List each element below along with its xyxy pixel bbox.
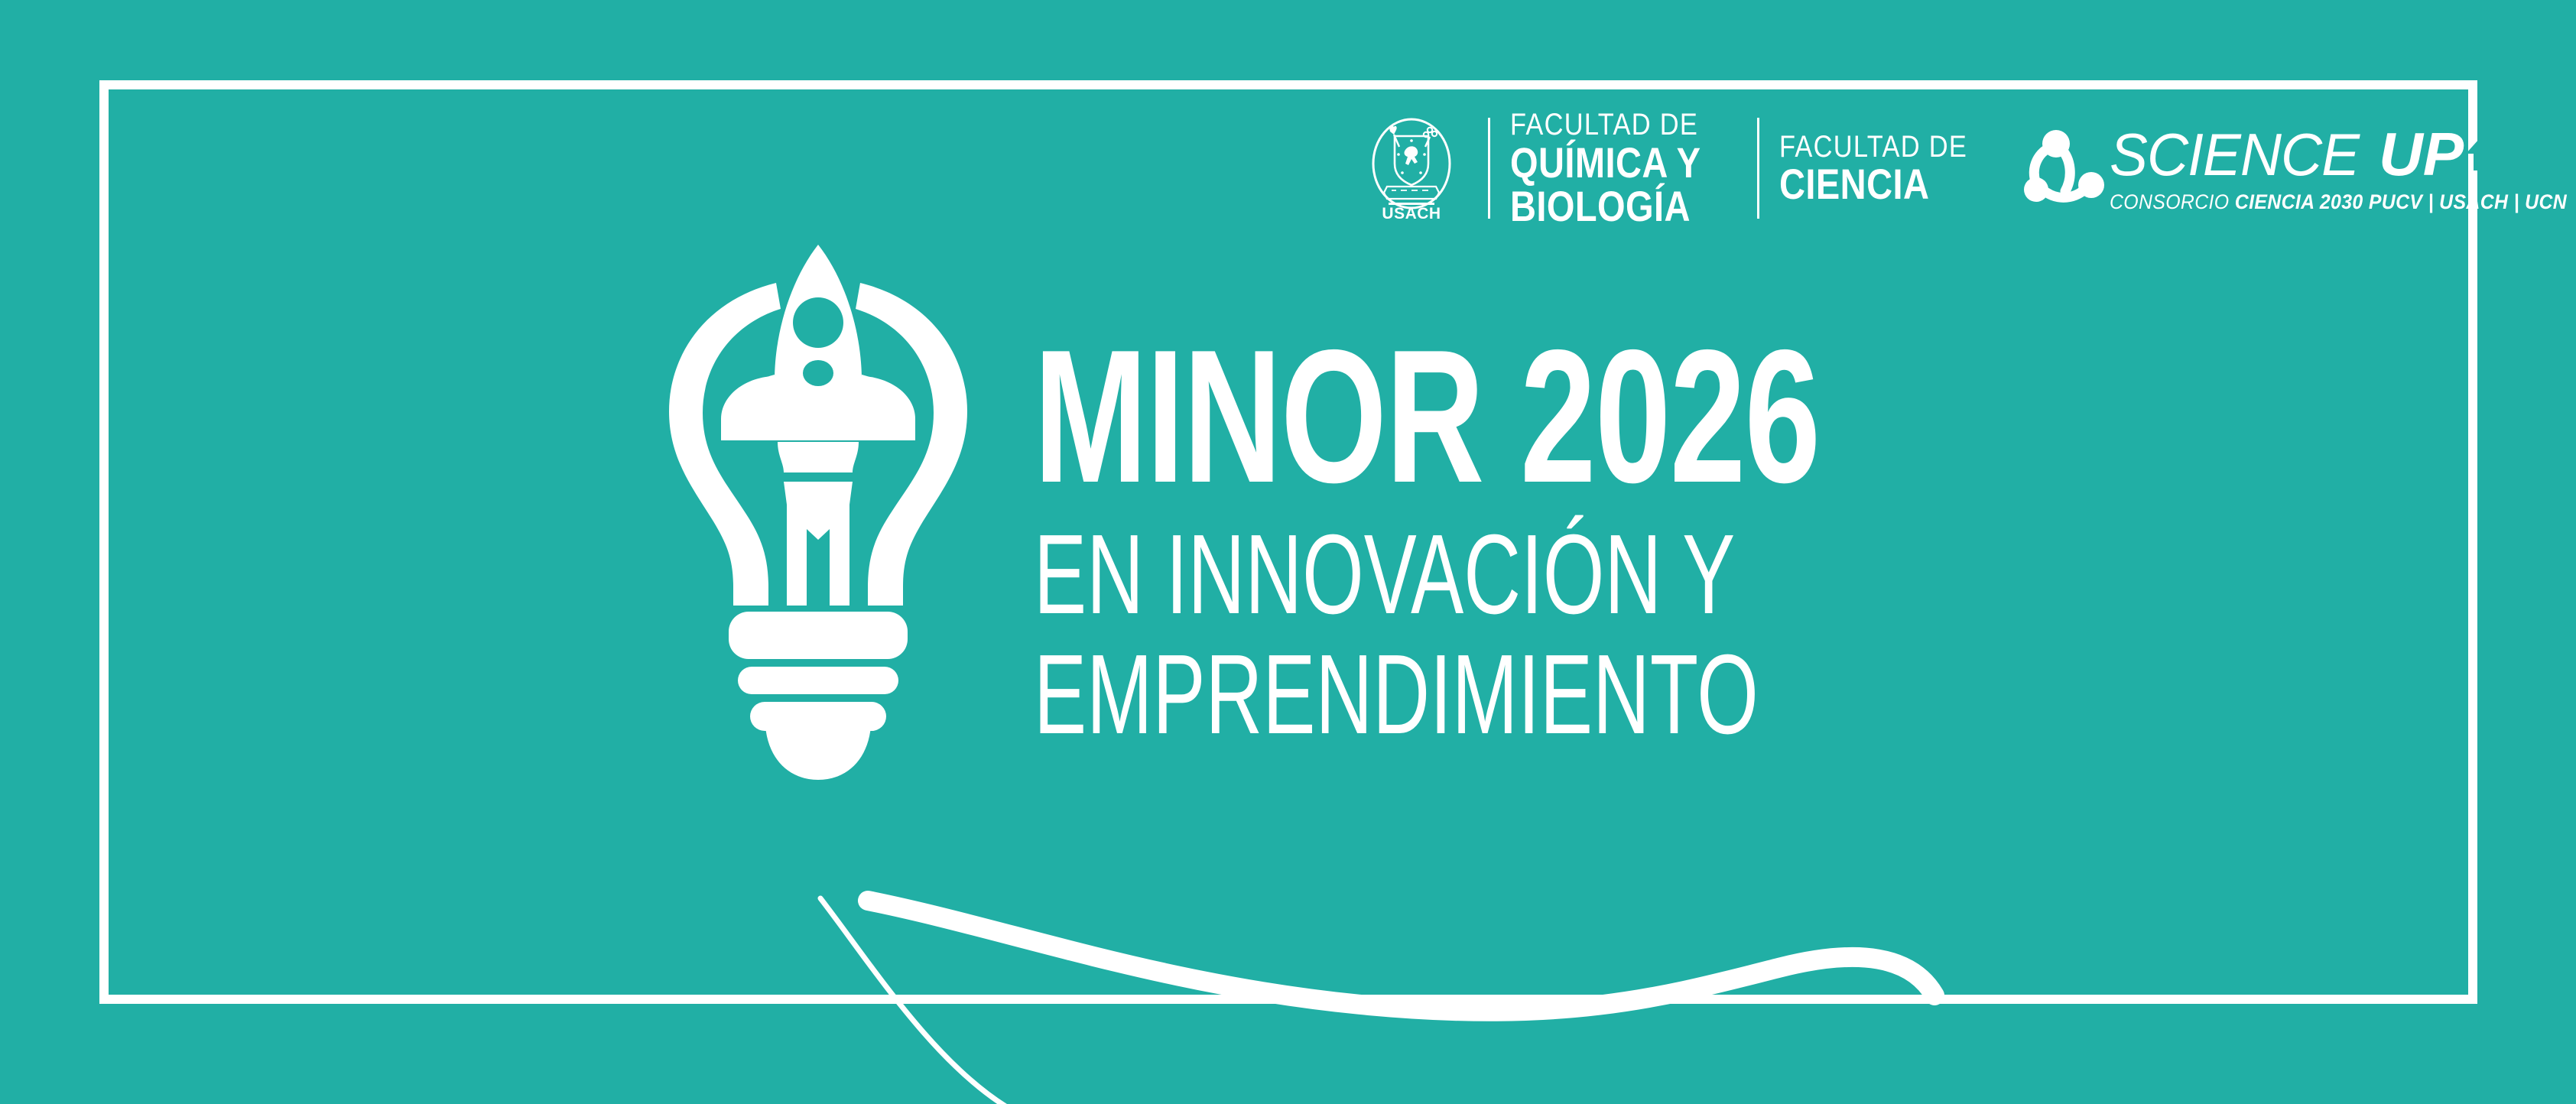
faculty-ciencia: FACULTAD DE CIENCIA <box>1779 131 1998 206</box>
svg-text:UP: UP <box>2379 123 2464 188</box>
logo-divider-2 <box>1757 118 1759 219</box>
faculty-ciencia-prefix: FACULTAD DE <box>1779 131 1967 163</box>
faculty-qb-name-line2: BIOLOGÍA <box>1510 184 1701 228</box>
svg-text:SCIENCE: SCIENCE <box>2110 123 2360 188</box>
science-up-logo: SCIENCE UP CONSORCIO CIENCIA 2030 PUCV |… <box>2024 123 2576 214</box>
logo-divider-1 <box>1488 118 1490 219</box>
banner-root: USACH FACULTAD DE QUÍMICA Y BIOLOGÍA FAC… <box>0 0 2576 1104</box>
header-logo-row: USACH FACULTAD DE QUÍMICA Y BIOLOGÍA FAC… <box>1369 107 2576 229</box>
science-up-wordmark: SCIENCE UP <box>2110 123 2515 189</box>
faculty-quimica-biologia: FACULTAD DE QUÍMICA Y BIOLOGÍA <box>1510 109 1737 228</box>
svg-text:USACH: USACH <box>1382 205 1441 220</box>
science-up-tagline: CONSORCIO CIENCIA 2030 PUCV | USACH | UC… <box>2110 190 2567 214</box>
subtitle-line-1: EN INNOVACIÓN Y <box>1034 517 1798 633</box>
page-title: MINOR 2026 <box>1034 329 1820 503</box>
faculty-qb-prefix: FACULTAD DE <box>1510 109 1705 141</box>
science-up-tagline-bold: CIENCIA 2030 PUCV | USACH | UCN <box>2235 190 2567 213</box>
science-up-tagline-prefix: CONSORCIO <box>2110 190 2235 213</box>
atom-molecule-icon <box>2024 127 2114 209</box>
subtitle-line-2: EMPRENDIMIENTO <box>1034 637 1798 753</box>
swoosh-thick-curve <box>868 901 1934 1011</box>
usach-crest-icon: USACH <box>1369 116 1454 220</box>
faculty-qb-name-line1: QUÍMICA Y <box>1510 141 1701 184</box>
faculty-ciencia-name: CIENCIA <box>1779 163 1963 206</box>
swoosh-thin-curve <box>820 898 1193 1104</box>
lightbulb-rocket-icon <box>654 229 983 826</box>
science-up-text: SCIENCE UP CONSORCIO CIENCIA 2030 PUCV |… <box>2110 123 2576 214</box>
headline-block: MINOR 2026 EN INNOVACIÓN Y EMPRENDIMIENT… <box>1034 329 2125 753</box>
